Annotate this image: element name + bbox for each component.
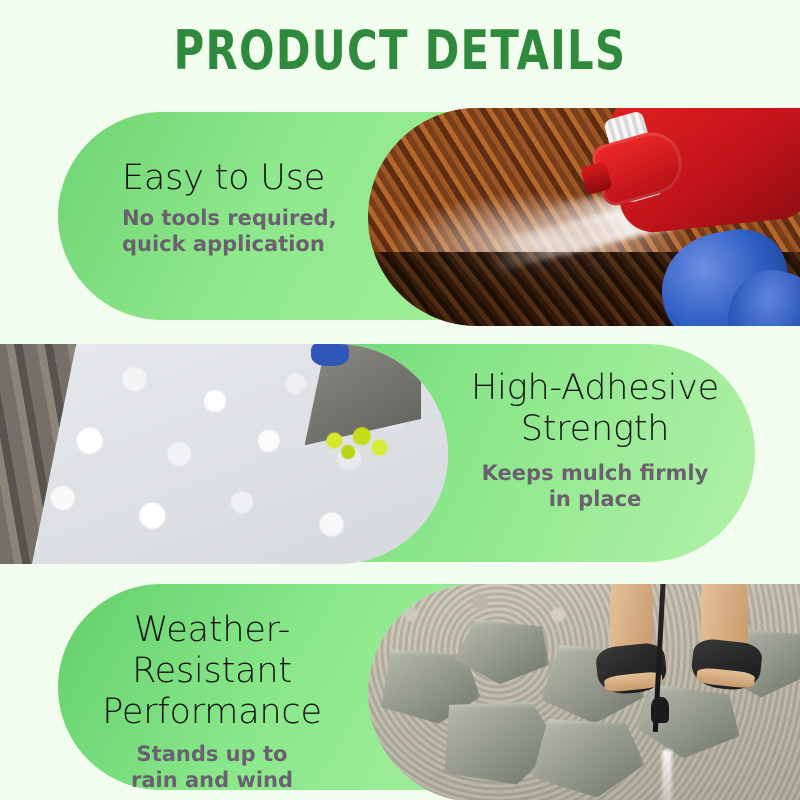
feature-heading: Easy to Use: [122, 158, 337, 198]
feature-heading-line-2: Strength: [452, 409, 738, 450]
feature-heading-line-1: High-Adhesive: [452, 368, 738, 409]
feature-subtitle: No tools required, quick application: [122, 205, 337, 257]
feature-subtitle-line-2: quick application: [122, 231, 337, 257]
feature-subtitle: Stands up to rain and wind: [62, 741, 362, 793]
feature-subtitle-line-2: rain and wind: [62, 767, 362, 793]
feature-row-weather-resistant-performance: Weather-Resistant Performance Stands up …: [0, 576, 800, 800]
feature-photo-high-adhesive-strength: [0, 344, 448, 564]
green-plants: [305, 423, 404, 467]
feature-photo-easy-to-use: [368, 108, 800, 326]
blue-object: [311, 344, 349, 366]
feature-text-high-adhesive-strength: High-Adhesive Strength Keeps mulch firml…: [452, 368, 738, 512]
feature-row-easy-to-use: Easy to Use No tools required, quick app…: [0, 100, 800, 332]
feature-heading: Weather-Resistant Performance: [62, 610, 362, 733]
white-pebbles-texture: [0, 344, 448, 564]
feature-subtitle: Keeps mulch firmly in place: [452, 460, 738, 512]
mulch-texture: [368, 108, 800, 326]
feature-photo-weather-resistant-performance: [368, 584, 800, 800]
rock: [532, 719, 644, 797]
feature-subtitle-line-1: Stands up to: [62, 741, 362, 767]
garden-stake-head: [651, 697, 669, 723]
page-title: PRODUCT DETAILS: [56, 22, 744, 80]
sandal-right: [690, 637, 764, 692]
water-stream: [662, 750, 672, 800]
feature-row-high-adhesive-strength: High-Adhesive Strength Keeps mulch firml…: [0, 340, 800, 568]
feature-heading: High-Adhesive Strength: [452, 368, 738, 450]
feature-subtitle-line-1: Keeps mulch firmly: [452, 460, 738, 486]
feature-heading-line-1: Weather-Resistant: [62, 610, 362, 692]
gravel-rocks-texture: [368, 584, 800, 800]
feature-text-weather-resistant-performance: Weather-Resistant Performance Stands up …: [62, 610, 362, 793]
wooden-deck: [0, 344, 76, 564]
feature-heading-line-2: Performance: [62, 692, 362, 733]
feature-text-easy-to-use: Easy to Use No tools required, quick app…: [122, 158, 337, 257]
feature-subtitle-line-2: in place: [452, 486, 738, 512]
feature-subtitle-line-1: No tools required,: [122, 205, 337, 231]
